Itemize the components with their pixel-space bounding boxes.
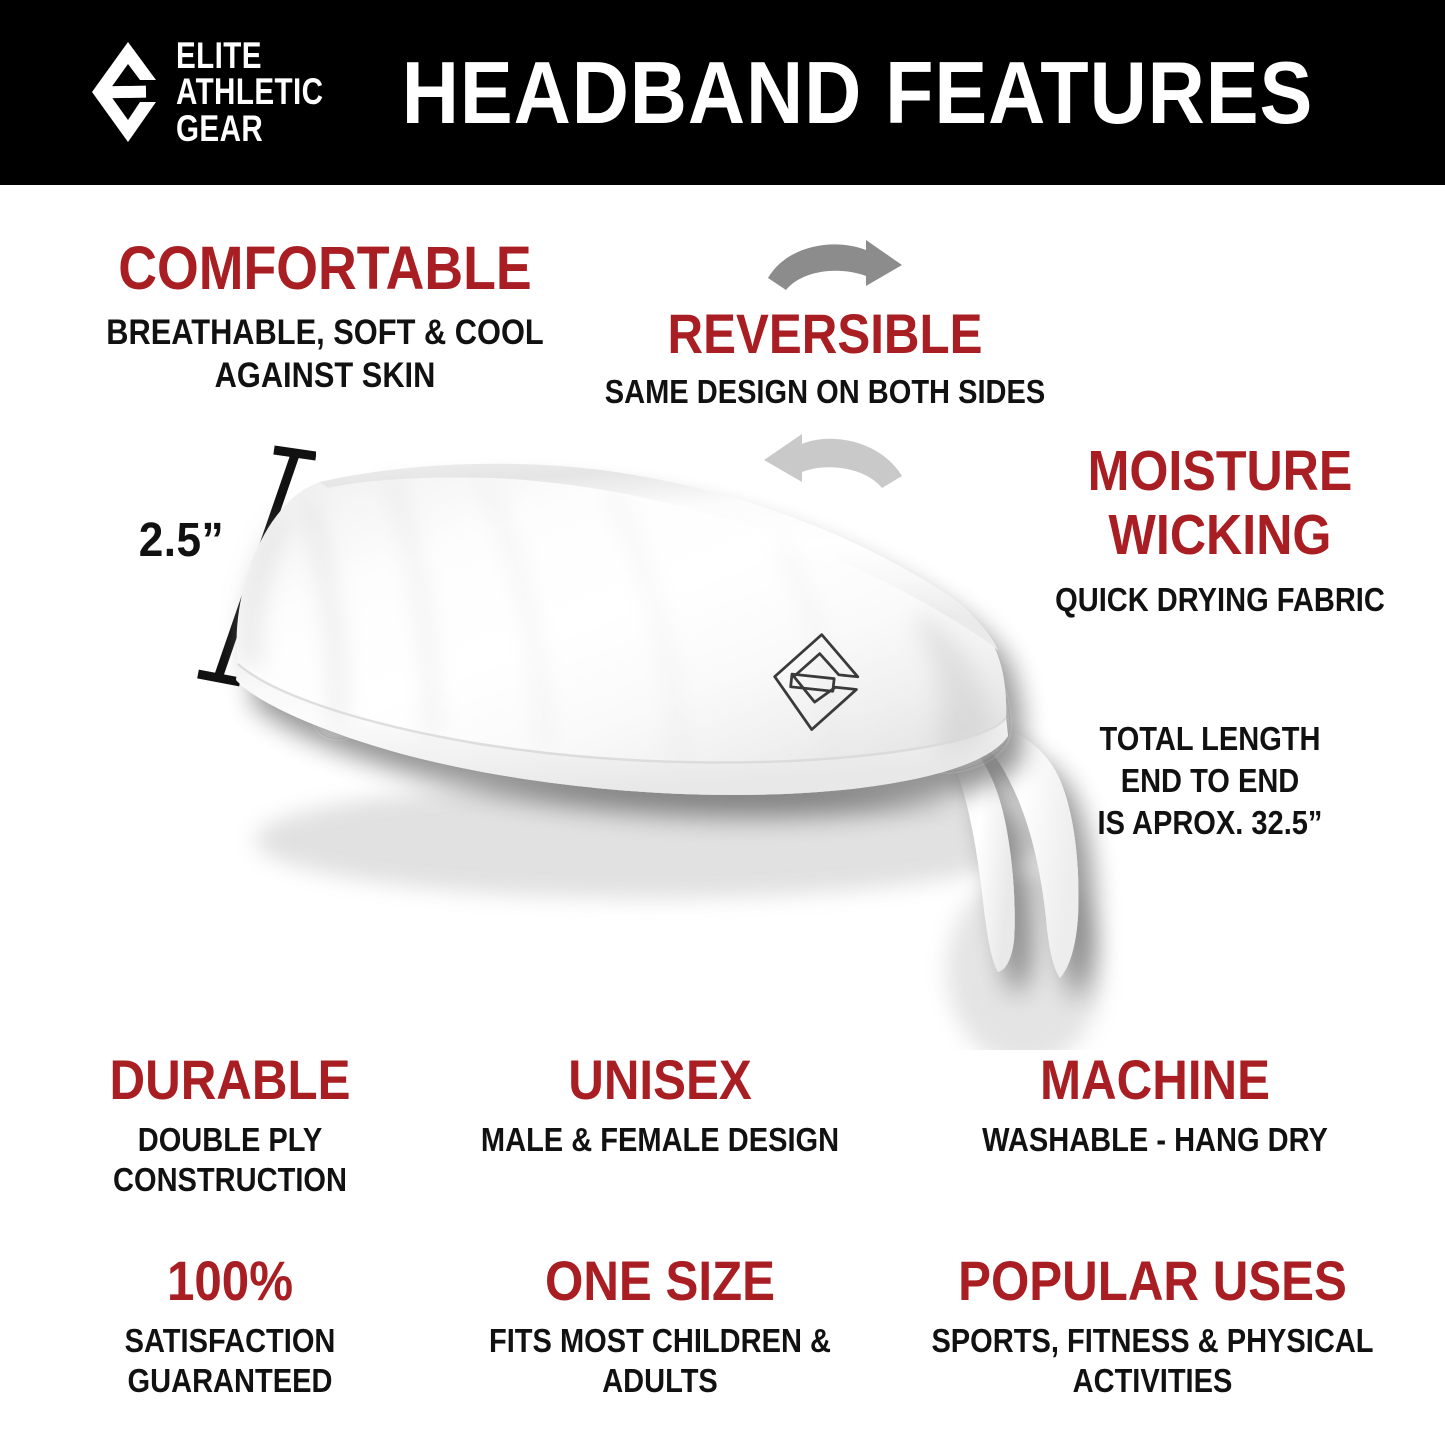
header-bar: HEADBAND FEATURES ELITE ATHLETIC GEAR xyxy=(0,0,1445,185)
feature-subtitle: WASHABLE - HANG DRY xyxy=(948,1120,1362,1160)
feature-popular-uses: POPULAR USES SPORTS, FITNESS & PHYSICAL … xyxy=(885,1253,1420,1402)
feature-subtitle: BREATHABLE, SOFT & COOL AGAINST SKIN xyxy=(61,312,589,397)
feature-subtitle-line: SAME DESIGN ON BOTH SIDES xyxy=(592,372,1058,412)
feature-subtitle: SATISFACTION GUARANTEED xyxy=(45,1321,415,1402)
feature-subtitle-line: WASHABLE - HANG DRY xyxy=(948,1120,1362,1160)
brand-line-athletic: ATHLETIC xyxy=(176,74,323,110)
feature-title: MACHINE xyxy=(948,1052,1362,1108)
feature-subtitle-line: FITS MOST CHILDREN & xyxy=(458,1321,863,1361)
elite-e-diamond-icon xyxy=(88,40,162,144)
feature-durable: DURABLE DOUBLE PLY CONSTRUCTION xyxy=(20,1052,440,1201)
headband-illustration xyxy=(180,430,1190,1050)
infographic-page: HEADBAND FEATURES ELITE ATHLETIC GEAR CO… xyxy=(0,0,1445,1445)
brand-line-elite: ELITE xyxy=(176,38,323,74)
feature-subtitle: SAME DESIGN ON BOTH SIDES xyxy=(592,372,1058,412)
elite-e-diamond-svg xyxy=(88,40,162,144)
feature-subtitle-line: AGAINST SKIN xyxy=(61,355,589,398)
feature-title: REVERSIBLE xyxy=(592,306,1058,362)
feature-subtitle: FITS MOST CHILDREN & ADULTS xyxy=(458,1321,863,1402)
feature-subtitle-line: MALE & FEMALE DESIGN xyxy=(458,1120,863,1160)
feature-machine-washable: MACHINE WASHABLE - HANG DRY xyxy=(920,1052,1390,1160)
feature-subtitle-line: CONSTRUCTION xyxy=(45,1160,415,1200)
feature-subtitle: MALE & FEMALE DESIGN xyxy=(458,1120,863,1160)
feature-title: ONE SIZE xyxy=(458,1253,863,1309)
feature-comfortable: COMFORTABLE BREATHABLE, SOFT & COOL AGAI… xyxy=(25,238,625,397)
feature-one-size: ONE SIZE FITS MOST CHILDREN & ADULTS xyxy=(430,1253,890,1402)
feature-subtitle-line: DOUBLE PLY xyxy=(45,1120,415,1160)
feature-title: POPULAR USES xyxy=(917,1253,1388,1309)
feature-subtitle-line: SPORTS, FITNESS & PHYSICAL xyxy=(917,1321,1388,1361)
headband-body xyxy=(236,464,1008,795)
feature-title: COMFORTABLE xyxy=(61,238,589,299)
feature-subtitle-line: BREATHABLE, SOFT & COOL xyxy=(61,312,589,355)
feature-subtitle: DOUBLE PLY CONSTRUCTION xyxy=(45,1120,415,1201)
product-image-headband xyxy=(180,430,1190,1050)
brand-line-gear: GEAR xyxy=(176,111,323,147)
feature-subtitle: SPORTS, FITNESS & PHYSICAL ACTIVITIES xyxy=(917,1321,1388,1402)
feature-title: 100% xyxy=(45,1253,415,1309)
feature-subtitle-line: ACTIVITIES xyxy=(917,1361,1388,1401)
brand-logo: ELITE ATHLETIC GEAR xyxy=(88,38,360,147)
feature-title: UNISEX xyxy=(458,1052,863,1108)
feature-subtitle-line: SATISFACTION xyxy=(45,1321,415,1361)
feature-title: DURABLE xyxy=(45,1052,415,1108)
feature-reversible: REVERSIBLE SAME DESIGN ON BOTH SIDES xyxy=(560,306,1090,412)
feature-satisfaction: 100% SATISFACTION GUARANTEED xyxy=(20,1253,440,1402)
brand-wordmark: ELITE ATHLETIC GEAR xyxy=(176,38,360,147)
feature-subtitle-line: GUARANTEED xyxy=(45,1361,415,1401)
curved-arrow-right-svg xyxy=(762,238,904,300)
curved-arrow-right-icon xyxy=(762,238,904,300)
feature-subtitle-line: ADULTS xyxy=(458,1361,863,1401)
feature-unisex: UNISEX MALE & FEMALE DESIGN xyxy=(430,1052,890,1160)
